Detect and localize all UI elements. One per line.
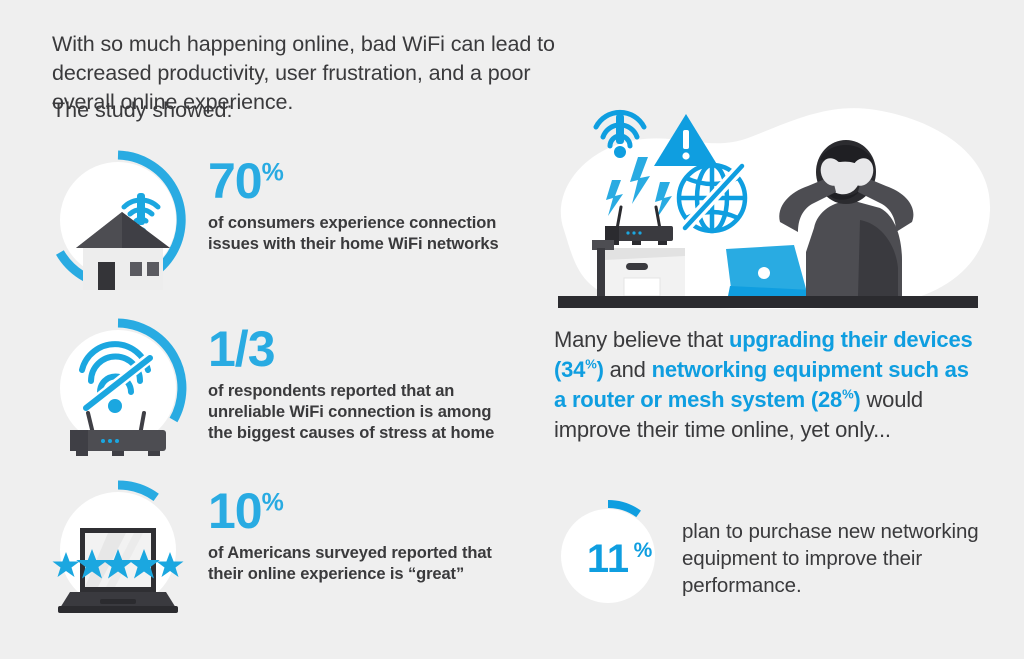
mb-part2: and xyxy=(604,357,652,382)
stat-number-10: 10 xyxy=(208,483,262,539)
stat-caption-10: of Americans surveyed reported that thei… xyxy=(208,543,518,585)
stat-suffix-11: % xyxy=(634,539,653,562)
stat-number-70: 70 xyxy=(208,153,262,209)
stat-block-70: 70% of consumers experience connection i… xyxy=(48,150,518,300)
mb-highlight-devices-pct: % xyxy=(585,357,596,372)
stat-medallion-70 xyxy=(48,150,188,290)
stat-medallion-11: 11 % xyxy=(552,500,664,612)
stat-block-onethird: 1/3 of respondents reported that an unre… xyxy=(48,318,518,468)
stat-number-onethird: 1/3 xyxy=(208,321,275,377)
mb-highlight-equipment-tail: ) xyxy=(853,387,860,412)
stat-suffix-70: % xyxy=(262,158,283,186)
stat-medallion-onethird xyxy=(48,318,188,458)
stat-figure-onethird: 1/3 xyxy=(208,324,518,374)
stat-caption-70: of consumers experience connection issue… xyxy=(208,213,518,255)
stat-body-10: 10% of Americans surveyed reported that … xyxy=(208,486,518,585)
mb-highlight-devices-tail: ) xyxy=(597,357,604,382)
stat-medallion-10 xyxy=(48,480,188,620)
globe-no-connection-icon xyxy=(679,165,745,231)
stat-body-onethird: 1/3 of respondents reported that an unre… xyxy=(208,324,518,444)
mb-part1: Many believe that xyxy=(554,327,729,352)
many-believe-paragraph: Many believe that upgrading their device… xyxy=(554,325,984,445)
stat-body-70: 70% of consumers experience connection i… xyxy=(208,156,518,255)
stat-block-10: 10% of Americans surveyed reported that … xyxy=(48,480,518,630)
stat-caption-onethird: of respondents reported that an unreliab… xyxy=(208,381,518,444)
study-lead-in: The study showed: xyxy=(52,96,232,125)
stat-suffix-10: % xyxy=(262,488,283,516)
stat-block-11: 11 % plan to purchase new networking equ… xyxy=(552,500,982,620)
stat-figure-10: 10% xyxy=(208,486,518,536)
mb-highlight-equipment-pct: % xyxy=(842,387,853,402)
infographic-canvas: With so much happening online, bad WiFi … xyxy=(0,0,1024,659)
stat-caption-11: plan to purchase new networking equipmen… xyxy=(682,518,982,599)
frustrated-user-bad-wifi-illustration xyxy=(540,100,1000,315)
stat-number-11: 11 xyxy=(587,537,629,581)
stat-figure-70: 70% xyxy=(208,156,518,206)
